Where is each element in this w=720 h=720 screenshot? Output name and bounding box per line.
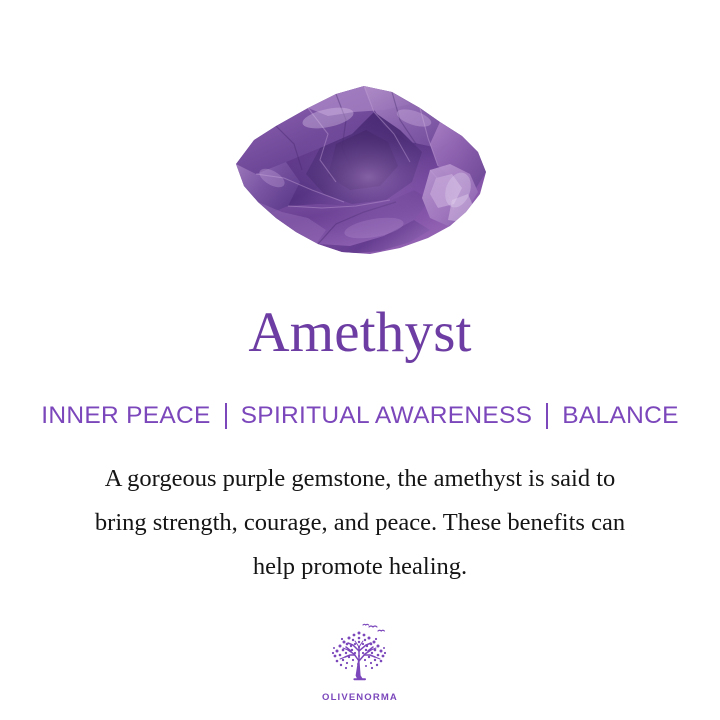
description-line: A gorgeous purple gemstone, the amethyst… xyxy=(40,457,680,501)
brand-logo: OLIVENORMA xyxy=(322,623,398,703)
keyword-separator-icon xyxy=(225,403,227,429)
brand-wordmark: OLIVENORMA xyxy=(322,692,398,703)
olivenorma-tree-icon xyxy=(325,623,395,689)
keyword-strip: INNER PEACE SPIRITUAL AWARENESS BALANCE xyxy=(41,403,679,429)
page-title: Amethyst xyxy=(248,304,471,361)
description-line: help promote healing. xyxy=(40,545,680,589)
description-line: bring strength, courage, and peace. Thes… xyxy=(40,501,680,545)
keyword-inner-peace: INNER PEACE xyxy=(41,404,210,429)
keyword-spiritual-awareness: SPIRITUAL AWARENESS xyxy=(241,404,533,429)
amethyst-product-card: Amethyst INNER PEACE SPIRITUAL AWARENESS… xyxy=(0,0,720,720)
keyword-separator-icon xyxy=(546,403,548,429)
hero-image-area xyxy=(0,0,720,282)
amethyst-crystal-image xyxy=(224,78,492,262)
keyword-balance: BALANCE xyxy=(562,404,678,429)
description-text: A gorgeous purple gemstone, the amethyst… xyxy=(40,457,680,589)
